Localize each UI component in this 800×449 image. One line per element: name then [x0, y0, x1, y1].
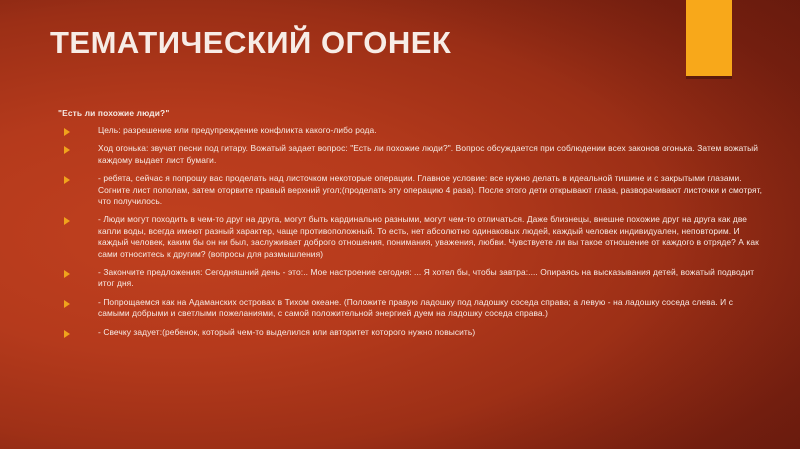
- triangle-bullet-icon: [52, 327, 98, 338]
- triangle-bullet-icon: [52, 143, 98, 154]
- list-item-text: - Свечку задует:(ребенок, который чем-то…: [98, 327, 764, 338]
- list-item-text: - Попрощаемся как на Адаманских островах…: [98, 297, 764, 320]
- triangle-bullet-icon: [52, 173, 98, 184]
- list-item: - Люди могут походить в чем-то друг на д…: [52, 214, 764, 260]
- triangle-bullet-icon: [52, 125, 98, 136]
- list-item: - Свечку задует:(ребенок, который чем-то…: [52, 327, 764, 338]
- list-item: - ребята, сейчас я попрошу вас проделать…: [52, 173, 764, 207]
- list-item: - Попрощаемся как на Адаманских островах…: [52, 297, 764, 320]
- accent-rectangle-shadow: [686, 76, 732, 79]
- page-title: ТЕМАТИЧЕСКИЙ ОГОНЕК: [50, 26, 670, 60]
- list-item-text: Ход огонька: звучат песни под гитару. Во…: [98, 143, 764, 166]
- list-item: Цель: разрешение или предупреждение конф…: [52, 125, 764, 136]
- presentation-slide: ТЕМАТИЧЕСКИЙ ОГОНЕК "Есть ли похожие люд…: [0, 0, 800, 449]
- list-item-text: - Закончите предложения: Сегодняшний ден…: [98, 267, 764, 290]
- accent-rectangle: [686, 0, 732, 76]
- list-item-text: Цель: разрешение или предупреждение конф…: [98, 125, 764, 136]
- slide-body: "Есть ли похожие люди?" Цель: разрешение…: [52, 108, 764, 344]
- list-item-text: - ребята, сейчас я попрошу вас проделать…: [98, 173, 764, 207]
- triangle-bullet-icon: [52, 214, 98, 225]
- lead-question: "Есть ли похожие люди?": [58, 108, 764, 118]
- triangle-bullet-icon: [52, 297, 98, 308]
- list-item: - Закончите предложения: Сегодняшний ден…: [52, 267, 764, 290]
- triangle-bullet-icon: [52, 267, 98, 278]
- list-item-text: - Люди могут походить в чем-то друг на д…: [98, 214, 764, 260]
- list-item: Ход огонька: звучат песни под гитару. Во…: [52, 143, 764, 166]
